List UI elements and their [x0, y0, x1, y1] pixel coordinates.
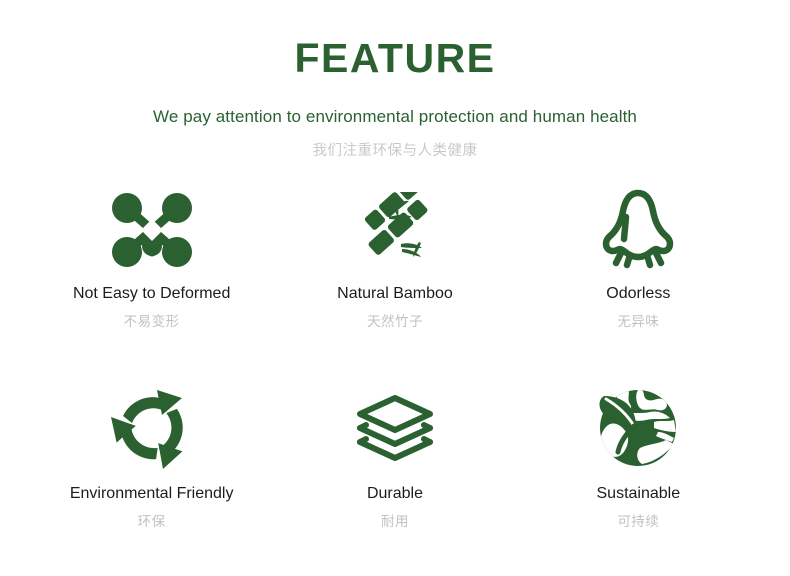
feature-label-cn: 可持续	[617, 514, 659, 530]
recycle-icon	[109, 378, 195, 478]
feature-section: FEATURE We pay attention to environmenta…	[0, 0, 790, 576]
feature-label-en: Natural Bamboo	[337, 284, 453, 303]
feature-label-cn: 耐用	[381, 514, 409, 530]
subtitle-chinese: 我们注重环保与人类健康	[0, 127, 790, 160]
globe-leaf-icon	[596, 378, 680, 478]
subtitle-english: We pay attention to environmental protec…	[0, 81, 790, 127]
layers-stack-icon	[354, 378, 436, 478]
feature-label-cn: 天然竹子	[367, 314, 423, 330]
feature-label-cn: 无异味	[617, 314, 659, 330]
feature-label-en: Odorless	[606, 284, 670, 303]
feature-label-en: Not Easy to Deformed	[73, 284, 230, 303]
feature-item-natural-bamboo: Natural Bamboo 天然竹子	[273, 182, 516, 378]
feature-item-odorless: Odorless 无异味	[517, 182, 760, 378]
feature-label-en: Environmental Friendly	[70, 484, 234, 503]
nose-icon	[599, 182, 677, 278]
feature-label-cn: 不易变形	[124, 314, 180, 330]
section-header: FEATURE We pay attention to environmenta…	[0, 0, 790, 160]
feature-grid: Not Easy to Deformed 不易变形	[30, 182, 760, 574]
feature-item-not-easy-to-deformed: Not Easy to Deformed 不易变形	[30, 182, 273, 378]
page-title: FEATURE	[0, 36, 790, 81]
bamboo-icon	[355, 182, 435, 278]
feature-label-cn: 环保	[138, 514, 166, 530]
molecule-nodes-icon	[110, 182, 194, 278]
feature-label-en: Durable	[367, 484, 423, 503]
feature-item-durable: Durable 耐用	[273, 378, 516, 574]
feature-label-en: Sustainable	[597, 484, 681, 503]
feature-item-environmental-friendly: Environmental Friendly 环保	[30, 378, 273, 574]
feature-item-sustainable: Sustainable 可持续	[517, 378, 760, 574]
